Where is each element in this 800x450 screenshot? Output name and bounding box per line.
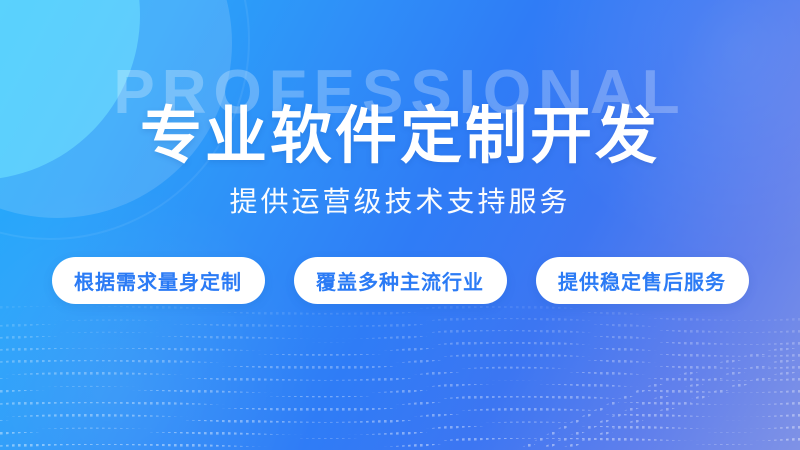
feature-pill-group: 根据需求量身定制 覆盖多种主流行业 提供稳定售后服务: [52, 257, 749, 304]
feature-pill-after-sales-service[interactable]: 提供稳定售后服务: [536, 257, 749, 304]
banner-subtitle: 提供运营级技术支持服务: [229, 185, 570, 219]
banner-title: 专业软件定制开发: [140, 104, 660, 169]
promo-banner: PROFESSIONAL 专业软件定制开发 提供运营级技术支持服务 根据需求量身…: [0, 0, 800, 450]
banner-content: 专业软件定制开发 提供运营级技术支持服务 根据需求量身定制 覆盖多种主流行业 提…: [0, 0, 800, 450]
feature-pill-custom-made[interactable]: 根据需求量身定制: [52, 257, 265, 304]
feature-pill-industry-coverage[interactable]: 覆盖多种主流行业: [294, 257, 507, 304]
